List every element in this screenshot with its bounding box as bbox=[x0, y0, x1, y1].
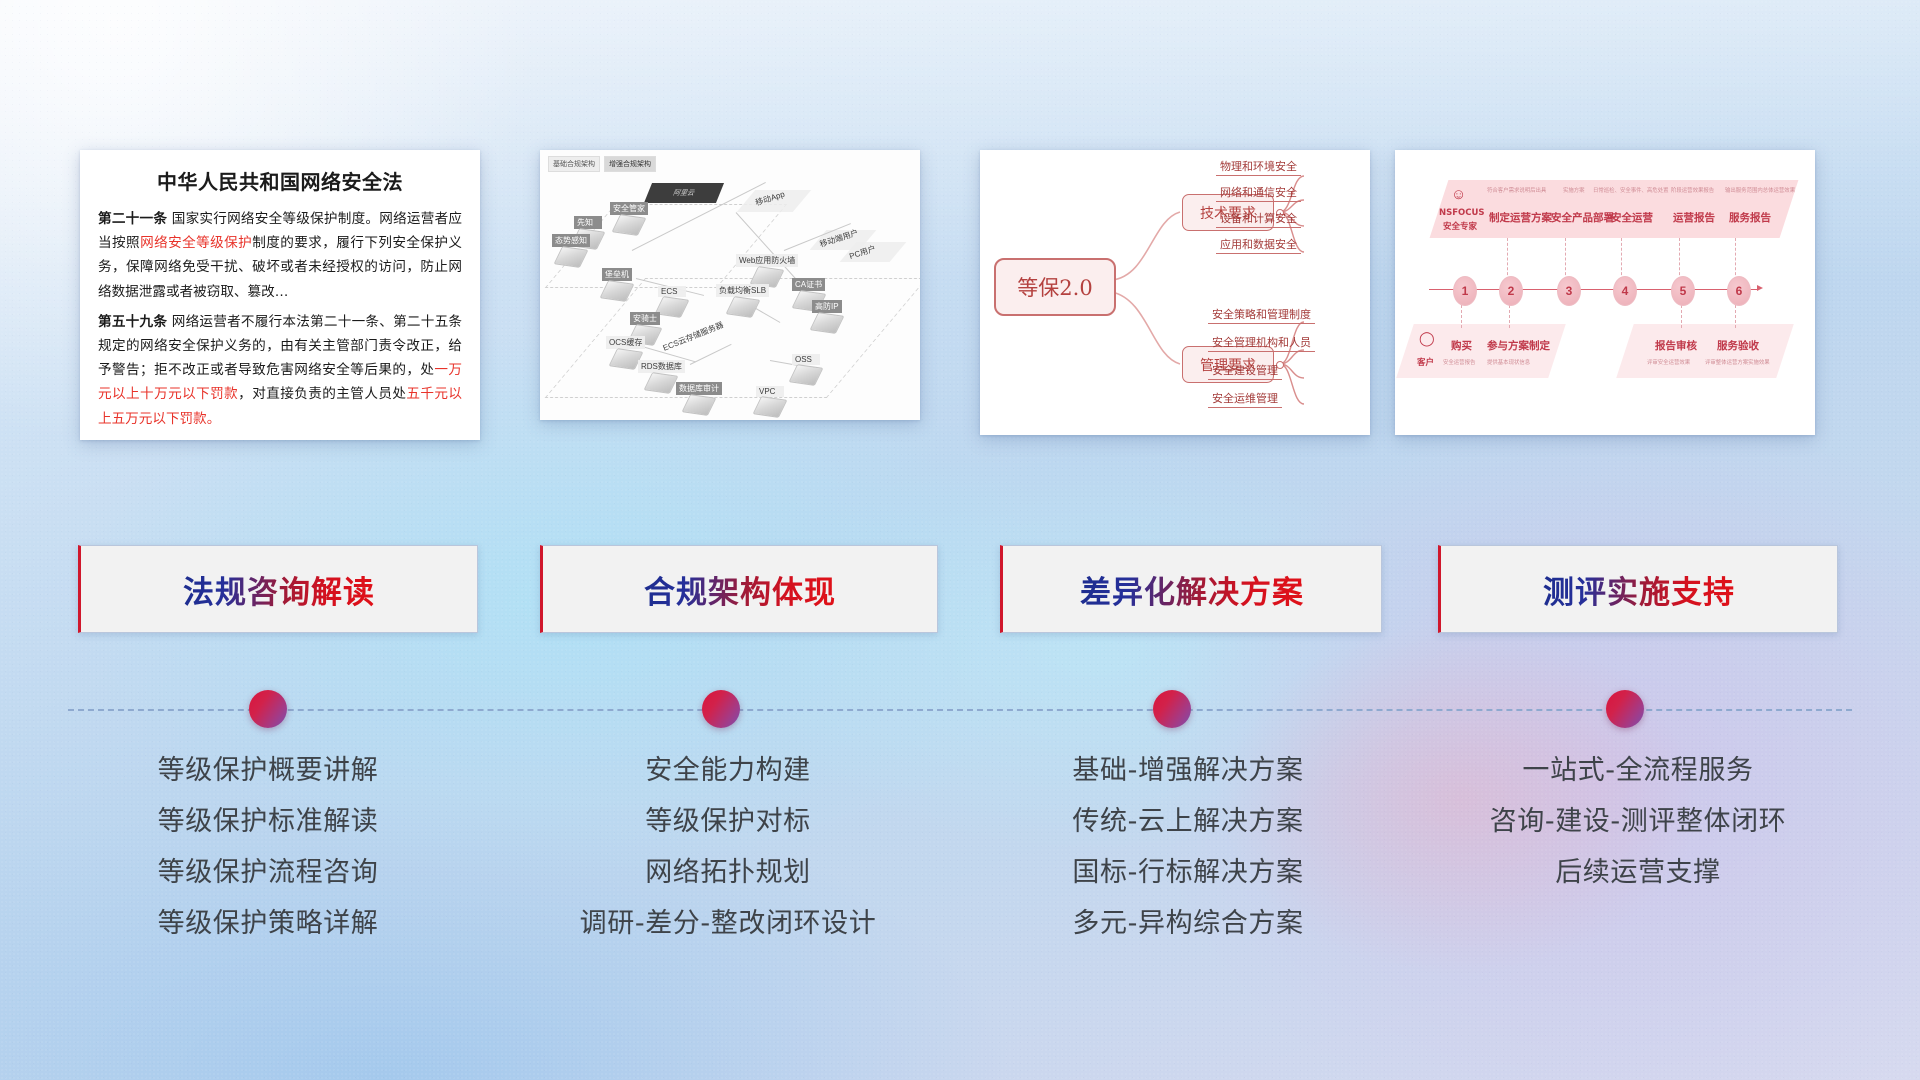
bottom-title-3: 报告审核 bbox=[1655, 338, 1697, 353]
dropline-6 bbox=[1735, 238, 1737, 280]
list-item: 等级保护标准解读 bbox=[68, 796, 468, 847]
law-article-21-label: 第二十一条 bbox=[98, 211, 167, 227]
node-bastion-host: 堡垒机 bbox=[602, 268, 632, 300]
timeline-step-1[interactable]: 1 bbox=[1453, 276, 1477, 306]
mindmap-leaf-security-ops-mgmt: 安全运维管理 bbox=[1208, 390, 1282, 408]
law-title: 中华人民共和国网络安全法 bbox=[98, 166, 462, 195]
mindmap-leaf-app-data-security: 应用和数据安全 bbox=[1216, 236, 1301, 254]
list-item: 等级保护策略详解 bbox=[68, 898, 468, 949]
timeline-bottom-band-right bbox=[1616, 324, 1794, 378]
top-sub-2: 实施方案 bbox=[1563, 186, 1585, 194]
cube-icon bbox=[789, 364, 824, 386]
pillar-list-4: 一站式-全流程服务 咨询-建设-测评整体闭环 后续运营支撑 bbox=[1428, 745, 1848, 898]
timeline-step-4[interactable]: 4 bbox=[1613, 276, 1637, 306]
node-load-balancer-slb: 负载均衡SLB bbox=[716, 284, 769, 316]
pillar-list-3: 基础-增强解决方案 传统-云上解决方案 国标-行标解决方案 多元-异构综合方案 bbox=[988, 745, 1388, 949]
law-document: 中华人民共和国网络安全法 第二十一条 国家实行网络安全等级保护制度。网络运营者应… bbox=[80, 150, 480, 440]
law-article-21-highlight: 网络安全等级保护 bbox=[140, 235, 252, 251]
pillar-header-assessment-support[interactable]: 测评实施支持 bbox=[1438, 545, 1838, 633]
law-article-21: 第二十一条 国家实行网络安全等级保护制度。网络运营者应当按照网络安全等级保护制度… bbox=[98, 207, 462, 304]
node-database-audit: 数据库审计 bbox=[676, 382, 722, 414]
mindmap-leaf-security-construction-mgmt: 安全建设管理 bbox=[1208, 362, 1282, 380]
top-sub-4: 阶段运营效果报告 bbox=[1671, 186, 1714, 194]
law-article-59-label: 第五十九条 bbox=[98, 314, 167, 330]
mindmap-leaf-network-comm-security: 网络和通信安全 bbox=[1216, 184, 1301, 202]
service-timeline-card: ☺ NSFOCUS 安全专家 ◯ 客户 符合客户需求说明后出具 制定运营方案 实… bbox=[1395, 150, 1815, 435]
architecture-diagram-card: 基础合规架构 增强合规架构 阿里云 bbox=[540, 150, 920, 420]
top-sub-5: 输出服务范围内总体运营效果 bbox=[1725, 186, 1795, 194]
mindmap-leaf-physical-env-security: 物理和环境安全 bbox=[1216, 158, 1301, 176]
rail-bead-2[interactable] bbox=[702, 690, 740, 728]
top-title-1: 制定运营方案 bbox=[1489, 210, 1552, 225]
timeline-arrow-icon bbox=[1757, 285, 1763, 291]
pillar-header-row: 法规咨询解读 合规架构体现 差异化解决方案 测评实施支持 bbox=[0, 545, 1920, 633]
dengbao-mindmap: 等保2.0 技术要求 管理要求 物理和环境安全 网络和通信安全 设备和计算安全 … bbox=[980, 150, 1370, 435]
pillar-list-2: 安全能力构建 等级保护对标 网络拓扑规划 调研-差分-整改闭环设计 bbox=[528, 745, 928, 949]
bottom-title-1: 购买 bbox=[1451, 338, 1472, 353]
pillar-title-3: 差异化解决方案 bbox=[1080, 567, 1304, 612]
rail-bead-1[interactable] bbox=[249, 690, 287, 728]
dropline-3 bbox=[1565, 238, 1567, 280]
rail-bead-3[interactable] bbox=[1153, 690, 1191, 728]
mindmap-root-node: 等保2.0 bbox=[994, 258, 1116, 316]
list-item: 咨询-建设-测评整体闭环 bbox=[1428, 796, 1848, 847]
cube-icon bbox=[809, 312, 844, 334]
dropline-4 bbox=[1621, 238, 1623, 280]
pillar-detail-lists: 等级保护概要讲解 等级保护标准解读 等级保护流程咨询 等级保护策略详解 安全能力… bbox=[0, 745, 1920, 965]
list-item: 等级保护流程咨询 bbox=[68, 847, 468, 898]
mindmap-card: 等保2.0 技术要求 管理要求 物理和环境安全 网络和通信安全 设备和计算安全 … bbox=[980, 150, 1370, 435]
customer-person-icon: ◯ bbox=[1419, 330, 1435, 347]
law-article-59-text-b: ，对直接负责的主管人员处 bbox=[238, 386, 406, 402]
bottom-sub-2: 提供基本现状信息 bbox=[1487, 358, 1530, 366]
timeline-step-3[interactable]: 3 bbox=[1557, 276, 1581, 306]
node-situational-awareness: 态势感知 bbox=[552, 234, 590, 266]
cube-icon bbox=[753, 396, 788, 418]
node-web-application-firewall: Web应用防火墙 bbox=[736, 254, 798, 286]
cloud-provider-banner: 阿里云 bbox=[644, 183, 724, 203]
bottom-sub-4: 评审整体运营方案实施效果 bbox=[1705, 358, 1770, 366]
customer-label: 客户 bbox=[1417, 356, 1434, 368]
mindmap-leaf-device-compute-security: 设备和计算安全 bbox=[1216, 210, 1301, 228]
list-item: 后续运营支撑 bbox=[1428, 847, 1848, 898]
tab-enhanced-architecture: 增强合规架构 bbox=[604, 156, 656, 172]
bottom-title-2: 参与方案制定 bbox=[1487, 338, 1550, 353]
cloud-architecture-diagram: 基础合规架构 增强合规架构 阿里云 bbox=[540, 150, 920, 420]
node-anti-ddos-ip: 高防IP bbox=[812, 300, 842, 332]
timeline-rail bbox=[0, 690, 1920, 730]
bottom-sub-3: 评审安全运营效果 bbox=[1647, 358, 1690, 366]
expert-person-icon: ☺ bbox=[1451, 186, 1466, 203]
list-item: 安全能力构建 bbox=[528, 745, 928, 796]
node-oss: OSS bbox=[792, 354, 820, 384]
node-security-butler: 安全管家 bbox=[610, 202, 648, 234]
slide-stage: 中华人民共和国网络安全法 第二十一条 国家实行网络安全等级保护制度。网络运营者应… bbox=[0, 0, 1920, 1080]
dropline-5 bbox=[1679, 238, 1681, 280]
rail-bead-4[interactable] bbox=[1606, 690, 1644, 728]
architecture-tab-group: 基础合规架构 增强合规架构 bbox=[548, 156, 656, 172]
cube-icon bbox=[554, 246, 589, 268]
timeline-axis bbox=[1429, 289, 1759, 290]
list-item: 基础-增强解决方案 bbox=[988, 745, 1388, 796]
bottom-title-4: 服务验收 bbox=[1717, 338, 1759, 353]
cube-icon bbox=[682, 394, 717, 416]
list-item: 国标-行标解决方案 bbox=[988, 847, 1388, 898]
list-item: 一站式-全流程服务 bbox=[1428, 745, 1848, 796]
dropline-2 bbox=[1507, 238, 1509, 280]
law-text-card: 中华人民共和国网络安全法 第二十一条 国家实行网络安全等级保护制度。网络运营者应… bbox=[80, 150, 480, 440]
list-item: 多元-异构综合方案 bbox=[988, 898, 1388, 949]
pillar-header-regulation-consulting[interactable]: 法规咨询解读 bbox=[78, 545, 478, 633]
cube-icon bbox=[644, 372, 679, 394]
top-sub-1: 符合客户需求说明后出具 bbox=[1487, 186, 1546, 194]
cube-icon bbox=[725, 296, 760, 318]
timeline-step-5[interactable]: 5 bbox=[1671, 276, 1695, 306]
image-card-row: 中华人民共和国网络安全法 第二十一条 国家实行网络安全等级保护制度。网络运营者应… bbox=[0, 150, 1920, 450]
cube-icon bbox=[600, 280, 635, 302]
timeline-step-6[interactable]: 6 bbox=[1727, 276, 1751, 306]
list-item: 网络拓扑规划 bbox=[528, 847, 928, 898]
top-title-3: 安全运营 bbox=[1611, 210, 1653, 225]
node-ecs: ECS bbox=[658, 286, 686, 316]
brand-name: NSFOCUS bbox=[1439, 208, 1485, 218]
law-article-59: 第五十九条 网络运营者不履行本法第二十一条、第二十五条规定的网络安全保护义务的，… bbox=[98, 310, 462, 431]
mindmap-leaf-security-org-personnel: 安全管理机构和人员 bbox=[1208, 334, 1315, 352]
pillar-title-1: 法规咨询解读 bbox=[183, 567, 375, 612]
list-item: 等级保护对标 bbox=[528, 796, 928, 847]
mindmap-leaf-security-policy-system: 安全策略和管理制度 bbox=[1208, 306, 1315, 324]
timeline-step-2[interactable]: 2 bbox=[1499, 276, 1523, 306]
top-title-2: 安全产品部署 bbox=[1551, 210, 1614, 225]
pillar-header-compliance-architecture[interactable]: 合规架构体现 bbox=[540, 545, 938, 633]
tab-base-architecture: 基础合规架构 bbox=[548, 156, 600, 172]
pillar-title-2: 合规架构体现 bbox=[644, 567, 836, 612]
pillar-title-4: 测评实施支持 bbox=[1543, 567, 1735, 612]
list-item: 调研-差分-整改闭环设计 bbox=[528, 898, 928, 949]
rail-dashed-line bbox=[68, 709, 1852, 711]
nsfocus-service-timeline: ☺ NSFOCUS 安全专家 ◯ 客户 符合客户需求说明后出具 制定运营方案 实… bbox=[1395, 150, 1815, 435]
list-item: 传统-云上解决方案 bbox=[988, 796, 1388, 847]
bottom-sub-1: 安全运营报告 bbox=[1443, 358, 1475, 366]
top-title-4: 运营报告 bbox=[1673, 210, 1715, 225]
cube-icon bbox=[612, 214, 647, 236]
node-vpc: VPC bbox=[756, 386, 784, 416]
list-item: 等级保护概要讲解 bbox=[68, 745, 468, 796]
top-title-5: 服务报告 bbox=[1729, 210, 1771, 225]
pillar-header-differentiated-solution[interactable]: 差异化解决方案 bbox=[1000, 545, 1382, 633]
brand-subtitle: 安全专家 bbox=[1443, 220, 1477, 232]
top-sub-3: 日常巡检、安全事件、高危处置 bbox=[1593, 186, 1668, 194]
pillar-list-1: 等级保护概要讲解 等级保护标准解读 等级保护流程咨询 等级保护策略详解 bbox=[68, 745, 468, 949]
